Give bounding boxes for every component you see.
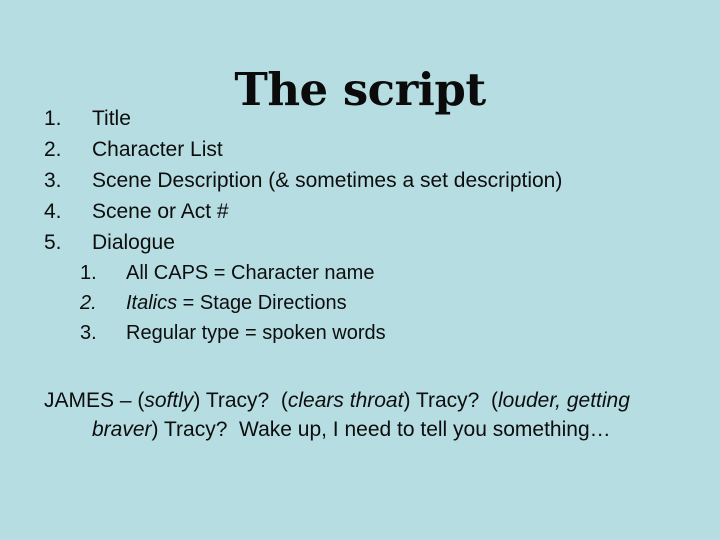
sub-list-item-label: = spoken words [239,322,385,344]
list-item-label: Title [92,107,131,130]
sub-list-item-label: = Stage Directions [177,292,347,314]
list-marker: 4. [44,196,62,227]
dialogue-segment-2: ) Tracy? ( [403,389,498,412]
sub-list-item-emphasis: All CAPS [126,262,208,284]
list-item-label: Character List [92,138,223,161]
dialogue-segment-1: ) Tracy? ( [193,389,288,412]
stage-direction-2: clears throat [288,389,404,412]
dialogue-speaker: JAMES – ( [44,389,144,412]
list-marker: 5. [44,227,62,258]
sub-list-marker: 3. [80,318,97,348]
list-item-label: Scene Description (& sometimes a set des… [92,169,562,192]
sub-list-marker: 2. [80,288,97,318]
sub-list-item-emphasis: Italics [126,292,177,314]
list-item: 4. Scene or Act # [0,196,720,227]
dialogue-segment-3: ) Tracy? Wake up, I need to tell you som… [152,418,611,441]
paragraph-spacer [0,348,720,386]
list-marker: 3. [44,165,62,196]
list-item: 2. Character List [0,134,720,165]
list-item-label: Scene or Act # [92,200,229,223]
ordered-list-level2: 1. All CAPS = Character name 2. Italics … [0,258,720,348]
dialogue-paragraph: JAMES – (softly) Tracy? (clears throat) … [0,386,720,444]
slide-body: 1. Title 2. Character List 3. Scene Desc… [0,103,720,444]
stage-direction-1: softly [144,389,193,412]
list-marker: 2. [44,134,62,165]
list-item: 5. Dialogue [0,227,720,258]
ordered-list-level1: 1. Title 2. Character List 3. Scene Desc… [0,103,720,258]
list-marker: 1. [44,103,62,134]
sub-list-item: 3. Regular type = spoken words [0,318,720,348]
sub-list-item-emphasis: Regular type [126,322,239,344]
sub-list-item-label: = Character name [208,262,374,284]
sub-list-item: 2. Italics = Stage Directions [0,288,720,318]
sub-list-item: 1. All CAPS = Character name [0,258,720,288]
list-item-label: Dialogue [92,231,175,254]
sub-list-marker: 1. [80,258,97,288]
list-item: 3. Scene Description (& sometimes a set … [0,165,720,196]
slide: The script 1. Title 2. Character List 3.… [0,0,720,540]
list-item: 1. Title [0,103,720,134]
